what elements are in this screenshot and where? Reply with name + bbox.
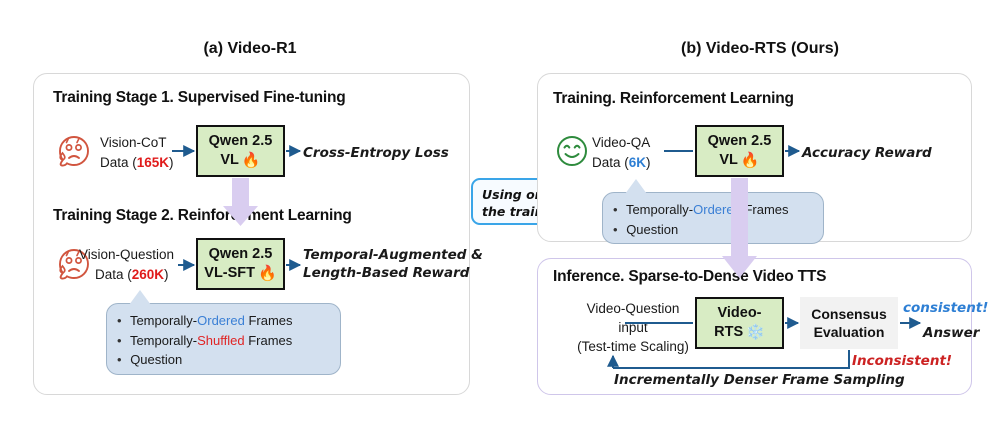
stage2-data-value: 260K [132, 267, 164, 282]
stage1-model-box: Qwen 2.5 VL 🔥 [196, 125, 285, 177]
bubble-item-highlight: Ordered [693, 202, 741, 217]
bubble-item-pre: Question [130, 352, 182, 367]
stage2-model-line1: Qwen 2.5 [209, 245, 273, 264]
stage2-title: Training Stage 2. Reinforcement Learning [53, 207, 352, 225]
inference-input-line1: Video-Question [553, 300, 713, 318]
figure-root: (a) Video-R1 (b) Video-RTS (Ours) Traini… [0, 0, 1000, 430]
stage1-title: Training Stage 1. Supervised Fine-tuning [53, 89, 346, 107]
list-item: Question [117, 350, 328, 370]
consensus-line1: Consensus [811, 305, 886, 323]
stage1-model-line2-row: VL 🔥 [220, 151, 260, 170]
inference-title: Inference. Sparse-to-Dense Video TTS [553, 268, 826, 286]
stage1-model-line2: VL [220, 151, 239, 170]
bubble-item-post: Frames [741, 202, 789, 217]
inference-model-line2: RTS [714, 323, 743, 342]
stage2-data-prefix: Data ( [95, 267, 132, 282]
stage2-data-line2: Data (260K) [95, 266, 169, 284]
snowflake-icon: ❄️ [746, 325, 765, 340]
inference-model-line2-row: RTS ❄️ [714, 323, 765, 342]
stage1-data-line2: Data (165K) [100, 154, 174, 172]
stage1-output: Cross-Entropy Loss [303, 145, 449, 163]
stage2-data-line1: Vision-Question [79, 246, 174, 264]
stage1-model-line1: Qwen 2.5 [209, 132, 273, 151]
bubble-item-pre: Question [626, 222, 678, 237]
inference-input-line3: (Test-time Scaling) [547, 338, 719, 356]
fire-icon: 🔥 [258, 266, 277, 281]
list-item: Temporally-Shuffled Frames [117, 331, 328, 351]
bubble-item-highlight: Shuffled [197, 333, 244, 348]
video-rts-model-box: Video- RTS ❄️ [695, 297, 784, 349]
training-input-bubble: Temporally-Ordered Frames Question [602, 192, 824, 244]
stage1-data-prefix: Data ( [100, 155, 137, 170]
fire-icon: 🔥 [242, 153, 261, 168]
training-data-line1: Video-QA [592, 134, 650, 152]
list-item: Temporally-Ordered Frames [117, 311, 328, 331]
stage2-output-line1: Temporal-Augmented & [303, 247, 483, 265]
list-item: Question [613, 220, 811, 240]
stage2-model-box: Qwen 2.5 VL-SFT 🔥 [196, 238, 285, 290]
bubble-item-post: Frames [245, 333, 293, 348]
consensus-line2: Evaluation [814, 323, 885, 341]
stage1-data-suffix: ) [169, 155, 174, 170]
training-model-line1: Qwen 2.5 [708, 132, 772, 151]
stage2-model-line2-row: VL-SFT 🔥 [204, 264, 276, 283]
answer-label: Answer [923, 325, 979, 343]
bubble-tail-icon [129, 290, 151, 305]
bubble-item-post: Frames [245, 313, 293, 328]
training-data-line2: Data (6K) [592, 154, 651, 172]
inconsistent-label: Inconsistent! [852, 353, 952, 371]
bubble-item-pre: Temporally- [626, 202, 693, 217]
list-item: Temporally-Ordered Frames [613, 200, 811, 220]
feedback-loop-label: Incrementally Denser Frame Sampling [614, 372, 905, 390]
fire-icon: 🔥 [741, 153, 760, 168]
stage2-model-line2: VL-SFT [204, 264, 255, 283]
bubble-item-pre: Temporally- [130, 333, 197, 348]
bubble-item-highlight: Ordered [197, 313, 245, 328]
training-title: Training. Reinforcement Learning [553, 90, 794, 108]
consistent-label: consistent! [903, 300, 988, 318]
stage1-data-value: 165K [137, 155, 169, 170]
left-figure-caption: (a) Video-R1 [150, 40, 350, 58]
consensus-evaluation-box: Consensus Evaluation [800, 297, 898, 349]
bubble-tail-icon [625, 179, 647, 194]
training-model-line2-row: VL 🔥 [719, 151, 759, 170]
training-data-suffix: ) [646, 155, 651, 170]
training-data-value: 6K [629, 155, 646, 170]
inference-model-line1: Video- [717, 304, 761, 323]
stage2-output-line2: Length-Based Reward [303, 265, 469, 283]
training-model-box: Qwen 2.5 VL 🔥 [695, 125, 784, 177]
bubble-item-pre: Temporally- [130, 313, 197, 328]
stage1-data-line1: Vision-CoT [100, 134, 167, 152]
stage2-data-suffix: ) [164, 267, 169, 282]
training-model-line2: VL [719, 151, 738, 170]
training-output: Accuracy Reward [802, 145, 932, 163]
sad-face-icon [52, 130, 96, 177]
stage2-input-bubble: Temporally-Ordered Frames Temporally-Shu… [106, 303, 341, 375]
happy-face-icon [551, 130, 593, 177]
right-figure-caption: (b) Video-RTS (Ours) [650, 40, 870, 58]
training-data-prefix: Data ( [592, 155, 629, 170]
inference-input-line2: input [553, 319, 713, 337]
